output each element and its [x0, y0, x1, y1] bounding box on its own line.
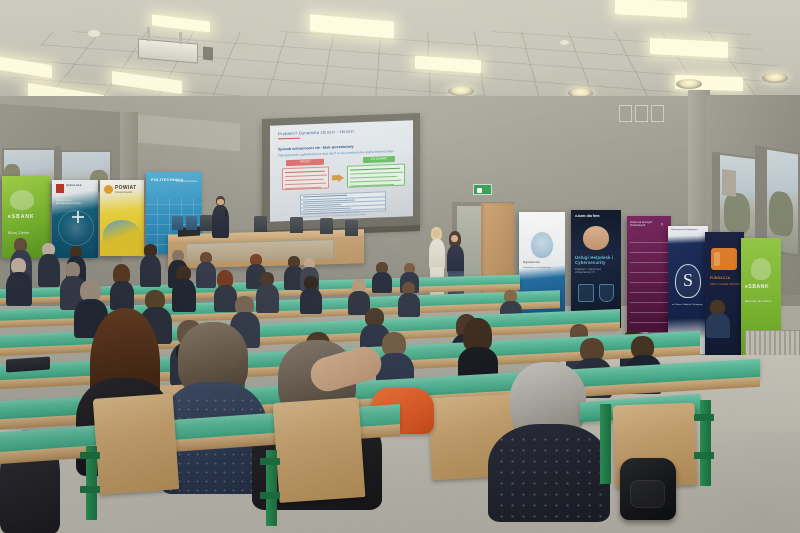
audience-person [706, 300, 730, 338]
audience-person [140, 244, 161, 287]
banner-cross-icon [77, 211, 79, 223]
banner-list-lines [630, 238, 668, 342]
slide-table [300, 191, 386, 214]
banner-xkom-brand: x-kom dla firm [575, 214, 600, 218]
blouse-pattern [496, 434, 602, 520]
banner-navy-sub: w Polsce Oddzial Okregowy [672, 304, 704, 307]
outside-tree [769, 190, 793, 238]
wall-vent-icon [635, 105, 648, 122]
audience-person [300, 276, 322, 314]
s-letter-icon: S [683, 270, 693, 290]
shield-icon [599, 284, 614, 302]
shell-logo-icon [531, 232, 553, 258]
banner-esbank-left-title: eSBANK [8, 214, 35, 220]
audience-person [110, 264, 134, 310]
seat-bracket [694, 414, 714, 421]
lecture-seat-back[interactable] [273, 397, 366, 503]
slide-title: Problem? Dynamika zbrosci - zbrosci [278, 128, 354, 136]
ceiling-light-panel [152, 14, 210, 32]
attendee-face [451, 235, 458, 242]
audience-person [398, 282, 420, 317]
banner-navy-title: Stowarzyszenie Ksiegowych [671, 229, 705, 232]
seat-bracket [694, 452, 714, 459]
banner-cyber-sub: Ciaglosc i odpornosc infrastruktury IT [575, 268, 617, 274]
chevron-right-icon: › [661, 222, 663, 228]
recessed-downlight [762, 73, 788, 83]
smoke-detector-icon [88, 30, 100, 37]
lecture-chair[interactable] [345, 220, 358, 236]
desk-leg-post [700, 400, 711, 486]
audience-person [372, 262, 392, 293]
banner-esbank-right-sub: Bankowy dla Ciebie [745, 300, 771, 303]
speaker [211, 196, 231, 238]
powiat-logo-icon [104, 185, 113, 194]
desk-leg-post [600, 404, 611, 484]
wall-vent-icon [651, 105, 664, 122]
lecture-chair[interactable] [254, 216, 267, 232]
banner-cyber-title: Uslugi Helpdesk i Cybersecurity [575, 256, 619, 266]
projected-slide: Problem? Dynamika zbrosci - zbrosci Spos… [270, 120, 413, 221]
seat-bracket [80, 452, 100, 459]
lecture-chair[interactable] [320, 218, 333, 234]
black-backpack-on-floor[interactable] [620, 458, 676, 520]
banner-person-photo [583, 226, 609, 250]
banner-fundacja-sub: PRZYJAZNE PRAWO [710, 283, 742, 286]
banner-fundacja-title: FUNDACJA [710, 276, 730, 280]
projector-lens-icon [203, 46, 213, 60]
banner-university-sub: Spoleczno-Humanistycznych [56, 199, 96, 206]
audience-person [172, 266, 196, 312]
slide-arrow-icon [338, 173, 344, 181]
slide-title-rule [278, 137, 300, 139]
banner-uczelnia-title: Regionalna Izba [523, 262, 561, 265]
banner-purple-title: Ochrona Danych Osobowych [630, 221, 662, 227]
seat-bracket [260, 492, 280, 499]
monitor-icon [578, 284, 594, 302]
banner-esbank-left-sub: Blizej Ciebie [8, 231, 29, 235]
audience-person [196, 252, 216, 288]
outside-tree [724, 191, 750, 234]
banner-esbank-right-title: eSBANK [745, 284, 769, 290]
seat-bracket [260, 458, 280, 465]
lecture-chair[interactable] [290, 217, 303, 233]
lecture-hall-photo: Problem? Dynamika zbrosci - zbrosci Spos… [0, 0, 800, 533]
banner-uczelnia-sub: Gospodarcza w Czestochowie [523, 267, 561, 270]
audience-person [38, 243, 60, 287]
esbank-leaf-logo-icon [10, 190, 34, 210]
smoke-detector-icon [560, 40, 569, 45]
slide-badge-left: PRZED [286, 159, 324, 166]
banner-powiat-sub: Czestochowski [115, 191, 132, 194]
university-crest-icon [56, 184, 64, 193]
outside-building [722, 169, 736, 197]
recessed-downlight [448, 86, 474, 96]
recessed-downlight [676, 79, 702, 89]
lecture-chair[interactable] [186, 216, 197, 230]
microphone-icon [225, 210, 227, 217]
audience-person [6, 258, 32, 306]
banner-powiat: POWIAT Czestochowski [100, 180, 144, 256]
ceiling-light-panel [615, 0, 687, 18]
hand-icon [714, 252, 720, 266]
banner-university-title: Wydzial Nauk [66, 184, 96, 187]
attendee-top [429, 239, 445, 269]
banner-politechnika-sub: Czestochowska [176, 180, 197, 183]
audience-person-foreground [488, 362, 610, 522]
slide-box-right [347, 164, 405, 188]
attendee-top [447, 245, 464, 273]
slide-box-left [282, 166, 329, 190]
projection-screen: Problem? Dynamika zbrosci - zbrosci Spos… [262, 113, 420, 233]
powiat-landscape-graphic [103, 220, 141, 250]
exit-sign-icon [473, 184, 492, 195]
esbank-leaf-logo-icon [751, 258, 771, 280]
lecture-seat-back[interactable] [93, 393, 180, 494]
lecture-chair[interactable] [172, 216, 183, 230]
banner-fundacja-orange: FUNDACJA PRZYJAZNE PRAWO [705, 232, 744, 362]
wall-vent-icon [619, 105, 632, 122]
seat-bracket [80, 486, 100, 493]
attendee-face [433, 230, 440, 237]
slide-badge-right: PO ZMIANIE [363, 156, 395, 163]
